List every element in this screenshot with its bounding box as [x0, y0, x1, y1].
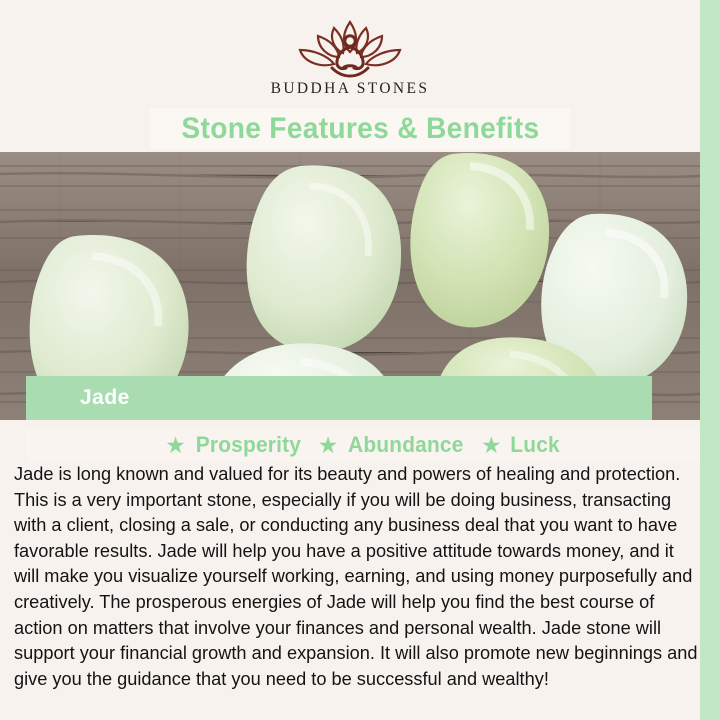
benefit-item: ★ Prosperity [165, 432, 303, 458]
title-banner: Stone Features & Benefits [150, 108, 570, 150]
infographic-page: BUDDHA STONES Stone Features & Benefits [0, 0, 720, 720]
stone-description: Jade is long known and valued for its be… [14, 462, 700, 692]
benefit-label: Prosperity [196, 432, 301, 458]
benefit-item: ★ Luck [481, 432, 561, 458]
stone-name-band: Jade [26, 376, 652, 420]
benefit-label: Luck [510, 432, 560, 458]
benefit-label: Abundance [348, 432, 464, 458]
star-icon: ★ [481, 434, 502, 457]
brand-name: BUDDHA STONES [271, 80, 430, 98]
benefits-row: ★ Prosperity ★ Abundance ★ Luck [26, 428, 700, 462]
decorative-green-right-border [700, 0, 720, 720]
stone-name: Jade [80, 386, 130, 410]
lotus-meditation-icon [286, 16, 414, 78]
page-title: Stone Features & Benefits [181, 112, 539, 146]
star-icon: ★ [165, 434, 186, 457]
brand-logo: BUDDHA STONES [0, 16, 700, 108]
star-icon: ★ [318, 434, 339, 457]
benefit-item: ★ Abundance [318, 432, 467, 458]
